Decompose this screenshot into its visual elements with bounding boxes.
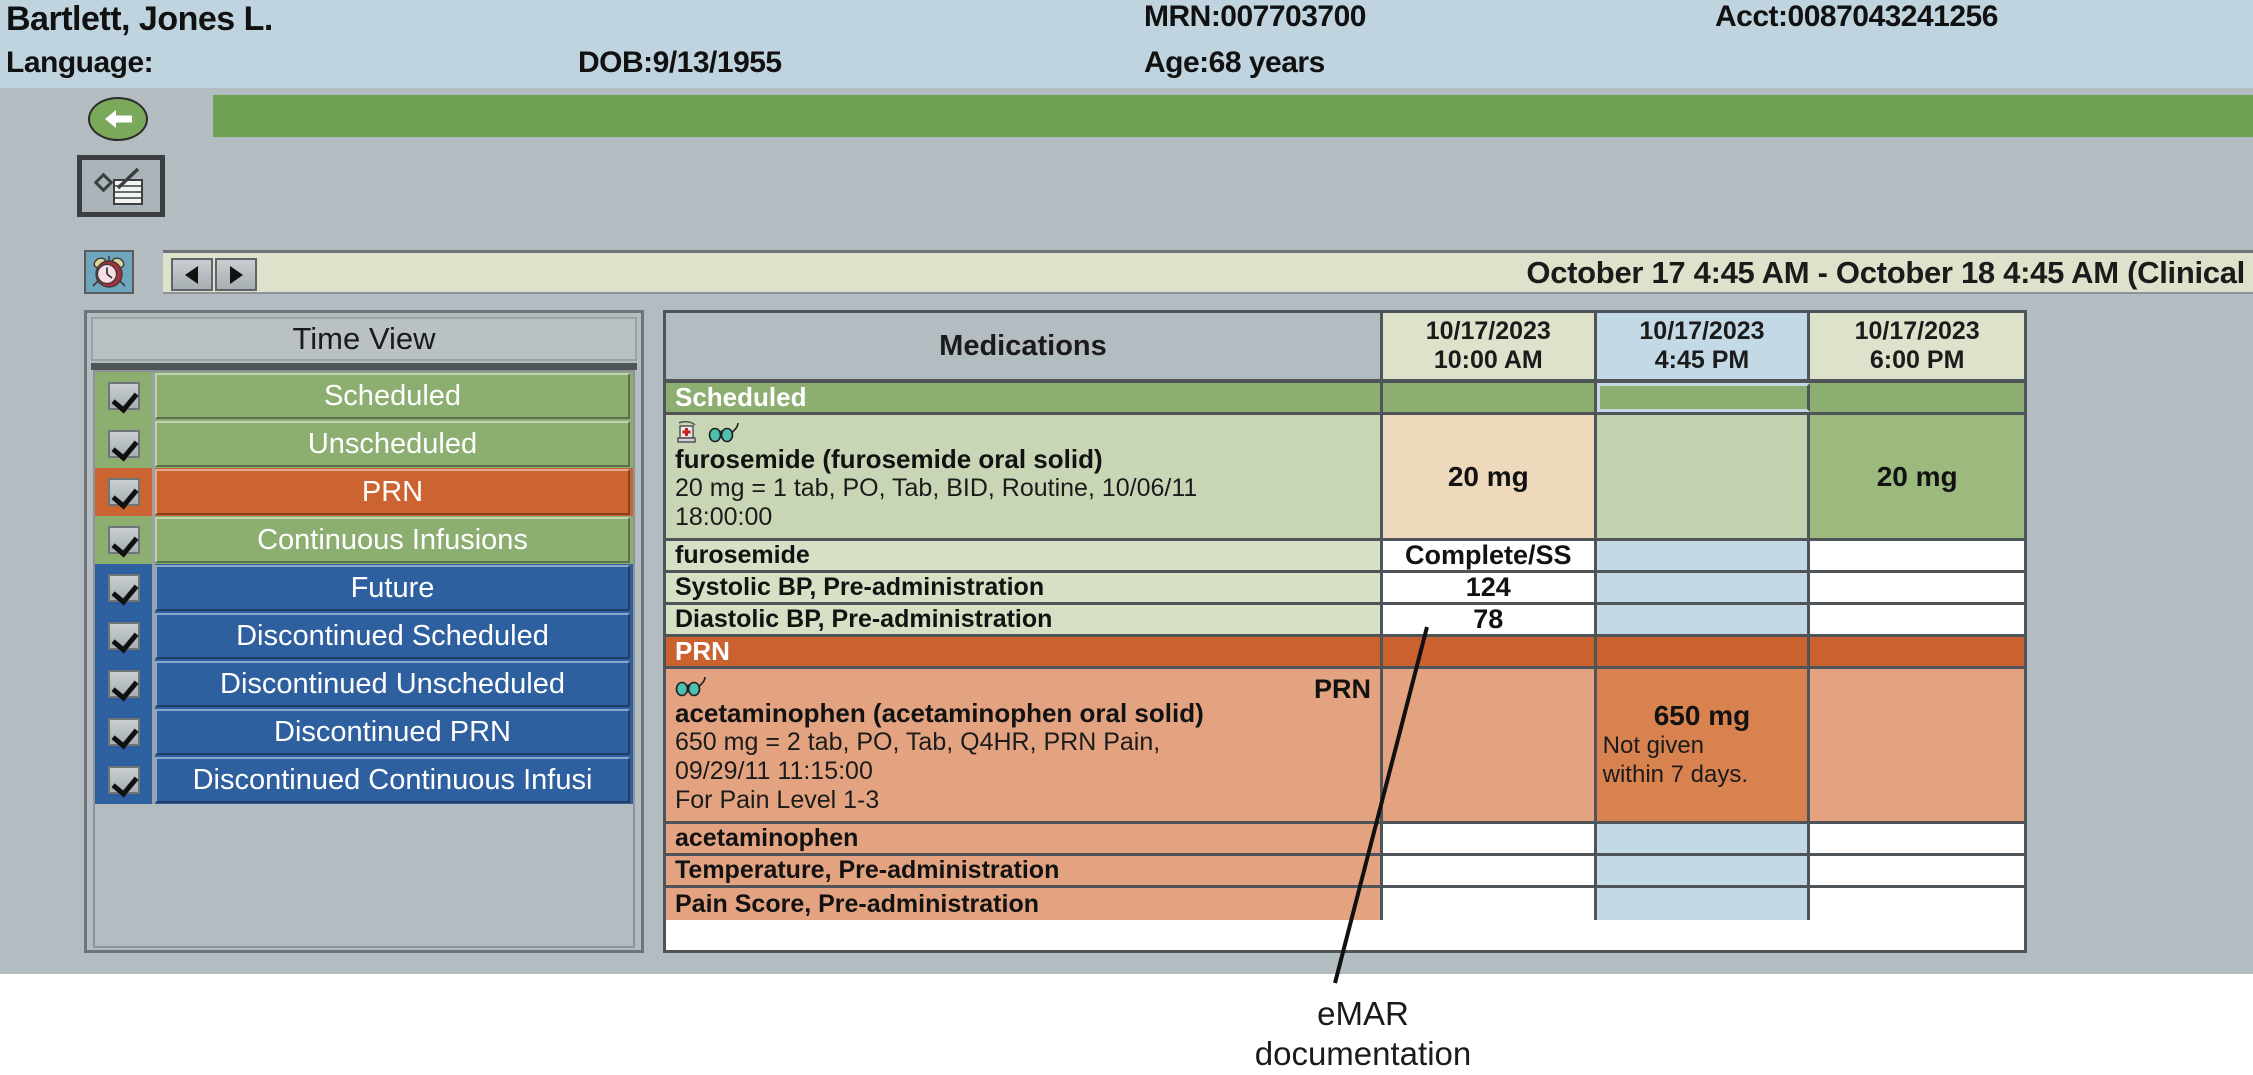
time-view-filter-row[interactable]: Discontinued Scheduled <box>95 612 633 660</box>
alarm-clock-icon[interactable] <box>84 250 134 294</box>
checkbox-checked-icon[interactable] <box>108 670 140 698</box>
time-view-filter-label: Discontinued PRN <box>155 709 630 755</box>
medication-name-acetaminophen: acetaminophen (acetaminophen oral solid) <box>675 699 1371 728</box>
time-view-filter-list: ScheduledUnscheduledPRNContinuous Infusi… <box>93 370 635 948</box>
section-cell-scheduled-2 <box>1810 383 2024 412</box>
task-value-acetaminophen-1[interactable] <box>1597 824 1811 853</box>
patient-mrn: MRN:007703700 <box>1144 0 1366 34</box>
back-arrow-icon[interactable] <box>88 97 148 141</box>
column-header-date-1: 10/17/2023 <box>1639 317 1764 346</box>
medication-name-furosemide: furosemide (furosemide oral solid) <box>675 445 1371 474</box>
medications-grid: Medications 10/17/2023 10:00 AM 10/17/20… <box>663 310 2027 953</box>
date-range-bar: October 17 4:45 AM - October 18 4:45 AM … <box>163 250 2253 294</box>
annotation-caption: eMAR documentation <box>1218 994 1508 1075</box>
dose-cell-acetaminophen-2[interactable] <box>1810 669 2024 821</box>
medication-row-acetaminophen[interactable]: PRN acetaminophen (acetaminophen oral so… <box>666 669 2024 824</box>
time-view-filter-label: Scheduled <box>155 373 630 419</box>
section-cell-prn-0 <box>1383 637 1597 666</box>
right-triangle-icon[interactable] <box>215 258 257 291</box>
task-row-furosemide-admin[interactable]: furosemide Complete/SS <box>666 541 2024 573</box>
dose-note-acetaminophen: Not givenwithin 7 days. <box>1597 732 1748 790</box>
time-view-filter-row[interactable]: Scheduled <box>95 372 633 420</box>
eyeglasses-icon <box>708 421 742 443</box>
dose-note-line: within 7 days. <box>1603 761 1748 790</box>
column-header-date-0: 10/17/2023 <box>1426 317 1551 346</box>
medication-sig-line1-acetaminophen: 650 mg = 2 tab, PO, Tab, Q4HR, PRN Pain, <box>675 728 1371 757</box>
task-label-pain-score: Pain Score, Pre-administration <box>666 888 1383 920</box>
task-value-diastolic-bp-0[interactable]: 78 <box>1383 605 1597 634</box>
task-label-diastolic-bp: Diastolic BP, Pre-administration <box>666 605 1383 634</box>
left-triangle-icon[interactable] <box>171 258 213 291</box>
medication-sig-line2-furosemide: 18:00:00 <box>675 503 1371 532</box>
time-view-filter-row[interactable]: PRN <box>95 468 633 516</box>
medication-sig-line2-acetaminophen: 09/29/11 11:15:00 <box>675 757 1371 786</box>
time-view-filter-label: PRN <box>155 469 630 515</box>
task-row-temperature[interactable]: Temperature, Pre-administration <box>666 856 2024 888</box>
task-value-acetaminophen-0[interactable] <box>1383 824 1597 853</box>
patient-account: Acct:0087043241256 <box>1715 0 1998 34</box>
time-view-checkbox-cell[interactable] <box>95 420 155 468</box>
dose-cell-acetaminophen-0[interactable] <box>1383 669 1597 821</box>
dose-amount-acetaminophen: 650 mg <box>1654 700 1751 732</box>
time-view-checkbox-cell[interactable] <box>95 612 155 660</box>
task-value-diastolic-bp-1[interactable] <box>1597 605 1811 634</box>
column-header-clock-1: 4:45 PM <box>1655 346 1749 375</box>
dose-note-line: Not given <box>1603 732 1748 761</box>
time-view-filter-row[interactable]: Discontinued PRN <box>95 708 633 756</box>
column-header-date-2: 10/17/2023 <box>1855 317 1980 346</box>
section-header-prn: PRN <box>666 637 2024 669</box>
section-cell-scheduled-0 <box>1383 383 1597 412</box>
task-label-systolic-bp: Systolic BP, Pre-administration <box>666 573 1383 602</box>
column-header-clock-2: 6:00 PM <box>1870 346 1964 375</box>
time-view-filter-label: Unscheduled <box>155 421 630 467</box>
time-view-divider <box>91 363 637 370</box>
checkbox-checked-icon[interactable] <box>108 766 140 794</box>
medication-sig-line3-acetaminophen: For Pain Level 1-3 <box>675 786 1371 815</box>
section-label-prn: PRN <box>666 637 1383 666</box>
toolbar-band <box>213 95 2253 137</box>
dose-cell-furosemide-1[interactable] <box>1597 415 1811 538</box>
medication-info-acetaminophen[interactable]: PRN acetaminophen (acetaminophen oral so… <box>666 669 1383 821</box>
column-header-time-1[interactable]: 10/17/2023 4:45 PM <box>1597 313 1811 379</box>
column-header-time-2[interactable]: 10/17/2023 6:00 PM <box>1810 313 2024 379</box>
checkbox-checked-icon[interactable] <box>108 574 140 602</box>
time-view-filter-row[interactable]: Discontinued Unscheduled <box>95 660 633 708</box>
time-view-filter-label: Discontinued Continuous Infusi <box>155 757 630 803</box>
dose-cell-acetaminophen-1[interactable]: 650 mg Not givenwithin 7 days. <box>1597 669 1811 821</box>
task-row-pain-score[interactable]: Pain Score, Pre-administration <box>666 888 2024 920</box>
time-view-checkbox-cell[interactable] <box>95 660 155 708</box>
date-range-label: October 17 4:45 AM - October 18 4:45 AM … <box>1526 255 2245 291</box>
task-value-systolic-bp-2[interactable] <box>1810 573 2024 602</box>
grid-header-row: Medications 10/17/2023 10:00 AM 10/17/20… <box>666 313 2024 383</box>
task-label-acetaminophen: acetaminophen <box>666 824 1383 853</box>
time-view-filter-label: Discontinued Unscheduled <box>155 661 630 707</box>
task-value-furosemide-2[interactable] <box>1810 541 2024 570</box>
medication-info-furosemide[interactable]: furosemide (furosemide oral solid) 20 mg… <box>666 415 1383 538</box>
medication-sig-line1-furosemide: 20 mg = 1 tab, PO, Tab, BID, Routine, 10… <box>675 474 1371 503</box>
task-row-diastolic-bp[interactable]: Diastolic BP, Pre-administration 78 <box>666 605 2024 637</box>
medication-icon-group-prn <box>675 673 1371 699</box>
order-entry-icon[interactable] <box>77 155 165 217</box>
checkbox-checked-icon[interactable] <box>108 430 140 458</box>
task-label-temperature: Temperature, Pre-administration <box>666 856 1383 885</box>
time-view-filter-label: Future <box>155 565 630 611</box>
task-label-furosemide: furosemide <box>666 541 1383 570</box>
time-view-filter-row[interactable]: Unscheduled <box>95 420 633 468</box>
time-view-checkbox-cell[interactable] <box>95 372 155 420</box>
task-value-acetaminophen-2[interactable] <box>1810 824 2024 853</box>
medication-row-furosemide[interactable]: furosemide (furosemide oral solid) 20 mg… <box>666 415 2024 541</box>
pharmacy-mortar-icon <box>675 420 701 444</box>
section-header-scheduled: Scheduled <box>666 383 2024 415</box>
patient-name: Bartlett, Jones L. <box>6 0 273 39</box>
dose-cell-furosemide-0[interactable]: 20 mg <box>1383 415 1597 538</box>
annotation-line-1: eMAR <box>1218 994 1508 1034</box>
time-view-filter-row[interactable]: Discontinued Continuous Infusi <box>95 756 633 804</box>
time-view-title: Time View <box>91 317 637 361</box>
task-value-systolic-bp-0[interactable]: 124 <box>1383 573 1597 602</box>
time-view-filter-label: Discontinued Scheduled <box>155 613 630 659</box>
time-view-filter-row[interactable]: Future <box>95 564 633 612</box>
patient-banner: Bartlett, Jones L. Language: DOB:9/13/19… <box>0 0 2253 88</box>
time-view-checkbox-cell[interactable] <box>95 708 155 756</box>
section-label-scheduled: Scheduled <box>666 383 1383 412</box>
checkbox-checked-icon[interactable] <box>108 718 140 746</box>
task-row-systolic-bp[interactable]: Systolic BP, Pre-administration 124 <box>666 573 2024 605</box>
task-value-systolic-bp-1[interactable] <box>1597 573 1811 602</box>
column-header-time-0[interactable]: 10/17/2023 10:00 AM <box>1383 313 1597 379</box>
time-view-checkbox-cell[interactable] <box>95 564 155 612</box>
patient-age: Age:68 years <box>1144 46 1325 80</box>
section-cell-prn-2 <box>1810 637 2024 666</box>
checkbox-checked-icon[interactable] <box>108 526 140 554</box>
patient-dob: DOB:9/13/1955 <box>578 46 782 80</box>
checkbox-checked-icon[interactable] <box>108 478 140 506</box>
time-view-panel: Time View ScheduledUnscheduledPRNContinu… <box>84 310 644 953</box>
time-view-checkbox-cell[interactable] <box>95 516 155 564</box>
task-row-acetaminophen-admin[interactable]: acetaminophen <box>666 824 2024 856</box>
task-value-furosemide-1[interactable] <box>1597 541 1811 570</box>
checkbox-checked-icon[interactable] <box>108 382 140 410</box>
task-value-temperature-2[interactable] <box>1810 856 2024 885</box>
annotation-line-2: documentation <box>1218 1034 1508 1074</box>
section-cell-scheduled-1 <box>1597 383 1811 412</box>
task-value-pain-score-0[interactable] <box>1383 888 1597 920</box>
time-view-filter-label: Continuous Infusions <box>155 517 630 563</box>
task-value-pain-score-1[interactable] <box>1597 888 1811 920</box>
task-value-furosemide-0[interactable]: Complete/SS <box>1383 541 1597 570</box>
task-value-temperature-0[interactable] <box>1383 856 1597 885</box>
prn-badge: PRN <box>1314 674 1371 705</box>
task-value-temperature-1[interactable] <box>1597 856 1811 885</box>
column-header-clock-0: 10:00 AM <box>1434 346 1543 375</box>
dose-cell-furosemide-2[interactable]: 20 mg <box>1810 415 2024 538</box>
checkbox-checked-icon[interactable] <box>108 622 140 650</box>
task-value-diastolic-bp-2[interactable] <box>1810 605 2024 634</box>
medication-icon-group <box>675 419 1371 445</box>
section-cell-prn-1 <box>1597 637 1811 666</box>
patient-language: Language: <box>6 46 153 80</box>
time-view-checkbox-cell[interactable] <box>95 756 155 804</box>
time-view-checkbox-cell[interactable] <box>95 468 155 516</box>
time-view-filter-row[interactable]: Continuous Infusions <box>95 516 633 564</box>
task-value-pain-score-2[interactable] <box>1810 888 2024 920</box>
eyeglasses-icon <box>675 675 709 697</box>
column-header-medications: Medications <box>666 313 1383 379</box>
